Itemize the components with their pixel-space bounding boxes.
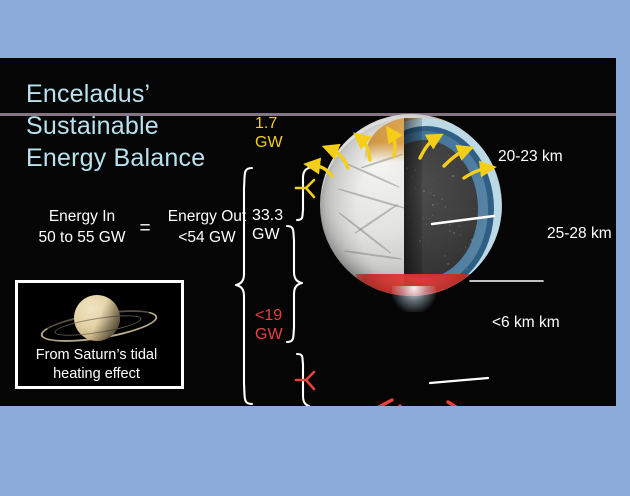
core-texture-speck xyxy=(432,204,434,206)
core-texture-speck xyxy=(439,222,441,224)
heat-arrow-red xyxy=(360,400,392,406)
core-texture-speck xyxy=(471,239,473,241)
core-texture-speck xyxy=(429,218,431,220)
core-texture-speck xyxy=(443,269,445,271)
core-texture-speck xyxy=(432,179,434,181)
energy-out-label: Energy Out <54 GW xyxy=(148,206,266,248)
core-texture-speck xyxy=(423,190,425,192)
core-texture-speck xyxy=(422,244,424,246)
core-texture-speck xyxy=(460,234,462,236)
label-ocean-thickness: 25-28 km xyxy=(547,225,612,243)
core-texture-speck xyxy=(433,195,435,197)
core-texture-speck xyxy=(423,218,425,220)
core-texture-speck xyxy=(441,198,443,200)
core-texture-speck xyxy=(430,192,432,194)
core-texture-speck xyxy=(462,172,464,174)
core-texture-speck xyxy=(452,175,454,177)
core-texture-speck xyxy=(445,206,447,208)
poster-panel: Enceladus’ Sustainable Energy Balance En… xyxy=(0,58,616,406)
core-texture-speck xyxy=(436,203,438,205)
saturn-inset-box: From Saturn’s tidal heating effect xyxy=(15,280,184,389)
value-south-polar-heat: <19 GW xyxy=(255,306,283,344)
surface-fracture xyxy=(338,212,391,254)
core-texture-speck xyxy=(447,263,449,265)
south-polar-plume xyxy=(392,286,436,312)
enceladus-icy-surface xyxy=(320,114,502,296)
core-texture-speck xyxy=(474,208,476,210)
value-total-heat: 33.3 GW xyxy=(252,206,283,244)
value-conducted-heat: 1.7 GW xyxy=(255,114,283,152)
energy-in-label: Energy In 50 to 55 GW xyxy=(22,206,142,248)
label-south-polar-ice-thickness: <6 km km xyxy=(492,314,560,332)
core-texture-speck xyxy=(448,155,450,157)
core-texture-speck xyxy=(449,230,451,232)
core-texture-speck xyxy=(427,241,429,243)
enceladus-cutaway-diagram xyxy=(320,110,502,340)
inset-caption: From Saturn’s tidal heating effect xyxy=(18,346,175,384)
core-texture-speck xyxy=(434,147,436,149)
core-texture-speck xyxy=(444,255,446,257)
cutaway-shadow-face xyxy=(404,118,422,296)
surface-fracture xyxy=(344,162,400,188)
page-title: Enceladus’ Sustainable Energy Balance xyxy=(26,78,205,174)
core-texture-speck xyxy=(423,237,425,239)
core-texture-speck xyxy=(467,268,469,270)
surface-fracture xyxy=(344,250,402,260)
core-texture-speck xyxy=(465,246,467,248)
heat-arrow-red xyxy=(448,402,474,406)
core-texture-speck xyxy=(459,225,461,227)
energy-equation: Energy In 50 to 55 GW = Energy Out <54 G… xyxy=(18,206,268,258)
surface-fracture xyxy=(337,188,409,210)
core-texture-speck xyxy=(432,215,434,217)
infographic-canvas: Enceladus’ Sustainable Energy Balance En… xyxy=(0,0,630,496)
core-texture-speck xyxy=(449,224,451,226)
core-texture-speck xyxy=(454,234,456,236)
label-ice-shell-thickness: 20-23 km xyxy=(498,148,563,166)
saturn-terminator-shadow xyxy=(74,295,120,341)
core-texture-speck xyxy=(426,224,428,226)
core-texture-speck xyxy=(426,147,428,149)
